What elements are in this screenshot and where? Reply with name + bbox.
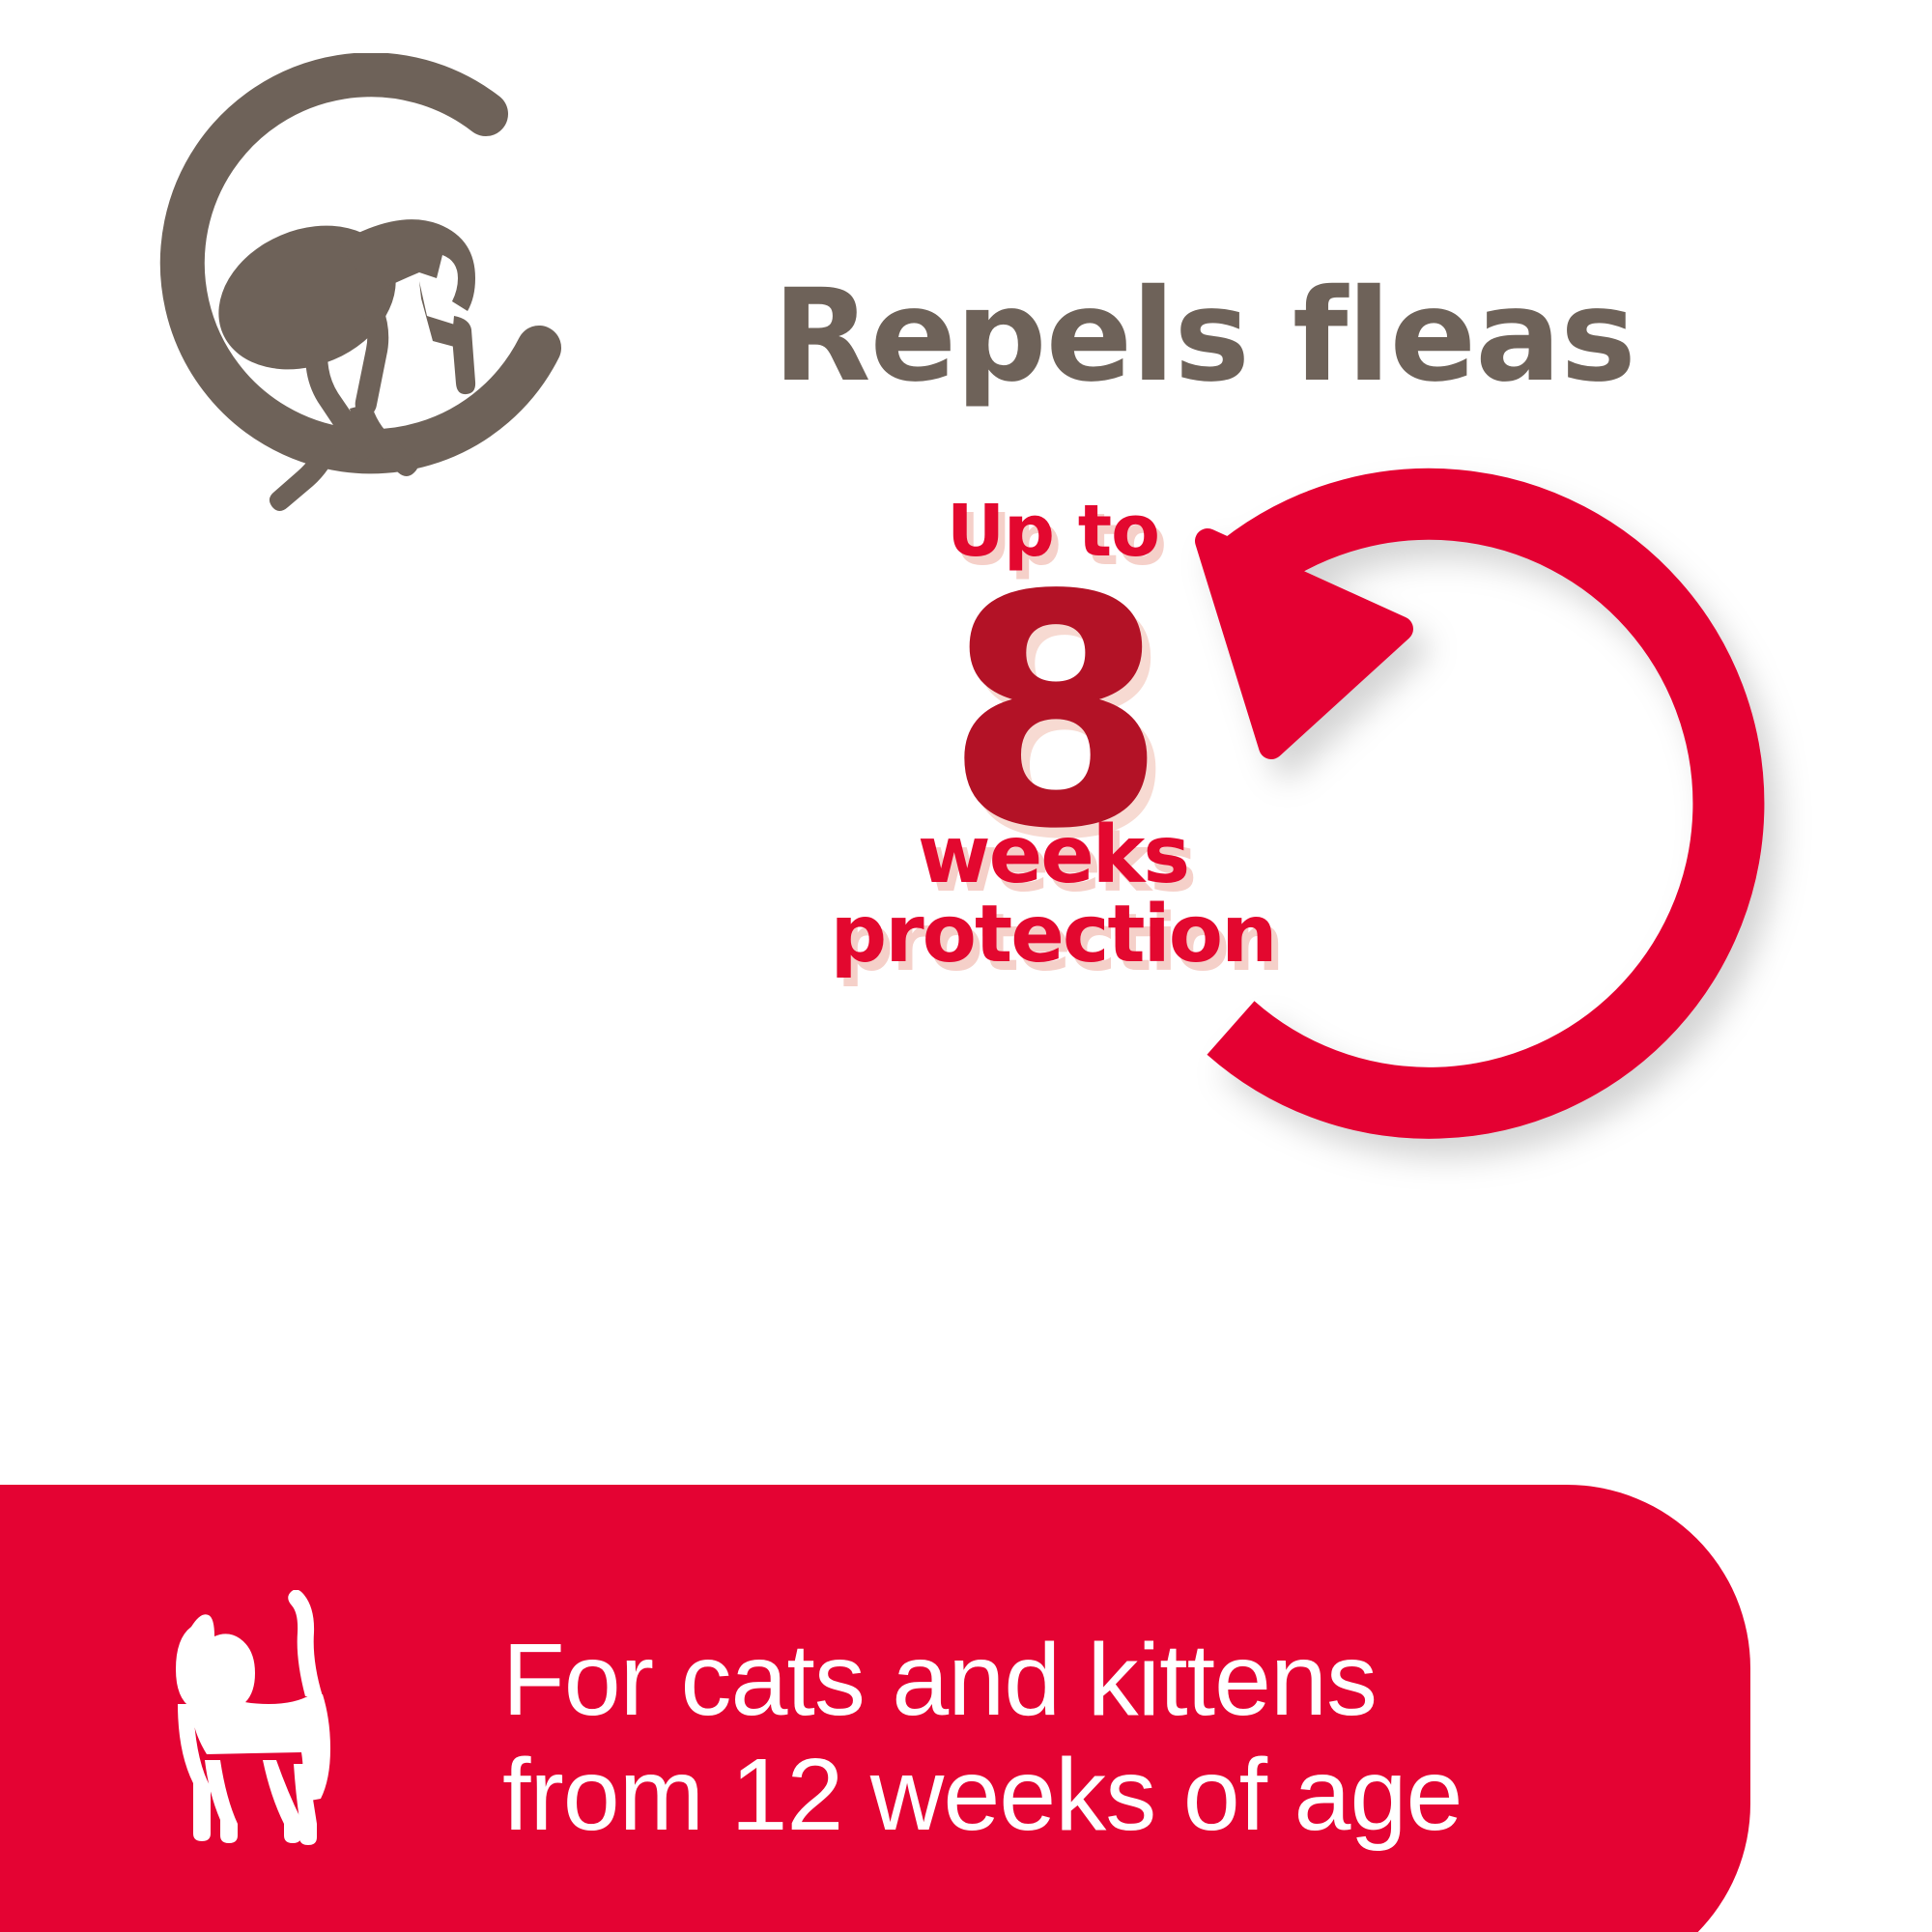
circular-arrow-icon — [667, 440, 1439, 1164]
flea-in-circle-icon — [114, 53, 597, 536]
banner-line-2: from 12 weeks of age — [502, 1738, 1462, 1853]
banner-line-1: For cats and kittens — [502, 1623, 1462, 1738]
page-title: Repels fleas — [773, 272, 1635, 400]
product-feature-panel: Repels fleas Up to 8 weeks protection — [0, 0, 1932, 1932]
cat-silhouette-icon — [135, 1590, 377, 1849]
banner-copy: For cats and kittens from 12 weeks of ag… — [502, 1623, 1462, 1852]
arrow-head — [1207, 541, 1401, 747]
